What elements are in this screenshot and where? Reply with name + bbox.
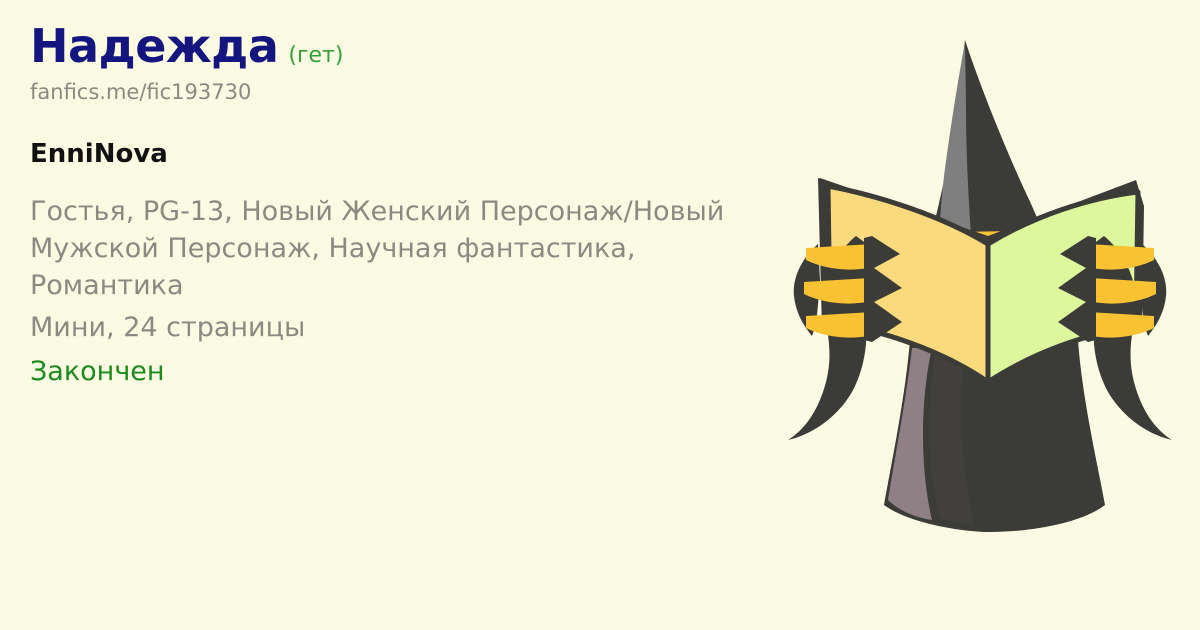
fic-url[interactable]: fanfics.me/fic193730	[30, 80, 760, 105]
fic-size: Мини, 24 страницы	[30, 310, 760, 346]
fic-category-label: (гет)	[288, 45, 343, 67]
title-row: Надежда (гет)	[30, 22, 760, 70]
witch-illustration-svg	[760, 0, 1200, 630]
fic-status-badge: Закончен	[30, 354, 760, 390]
finger-3	[806, 312, 872, 338]
fic-info-column: Надежда (гет) fanfics.me/fic193730 EnniN…	[30, 22, 760, 390]
fic-author-name[interactable]: EnniNova	[30, 139, 760, 170]
page-title: Надежда	[30, 22, 278, 70]
fic-tags: Гостья, PG-13, Новый Женский Персонаж/Но…	[30, 193, 730, 305]
finger-6	[1088, 312, 1154, 338]
fic-preview-card: Надежда (гет) fanfics.me/fic193730 EnniN…	[0, 0, 1200, 630]
witch-reading-book-illustration	[760, 0, 1200, 630]
